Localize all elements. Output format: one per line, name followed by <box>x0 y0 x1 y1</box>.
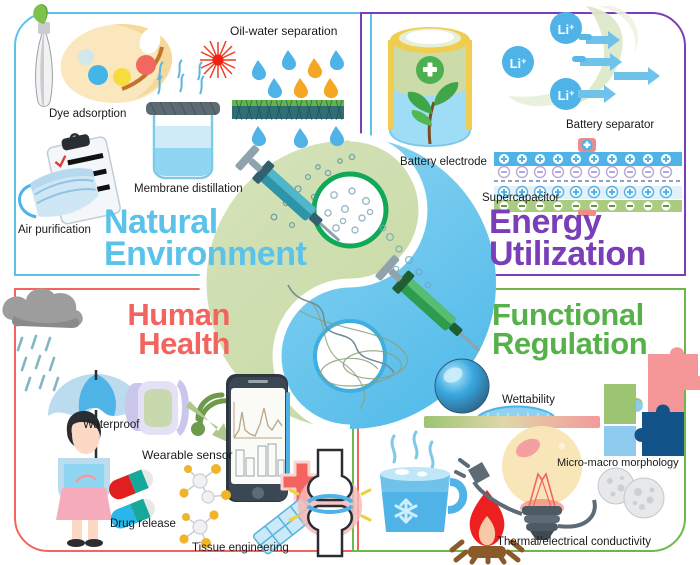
lightbulb-conductivity-icon <box>468 422 628 550</box>
label-oil-water-separation: Oil-water separation <box>230 24 337 38</box>
label-wettability: Wettability <box>502 394 555 406</box>
label-tissue-engineering: Tissue engineering <box>192 542 289 554</box>
label-dye-adsorption: Dye adsorption <box>49 108 126 120</box>
figure-canvas: Dye adsorption <box>0 0 700 565</box>
molecule-icon <box>166 455 252 551</box>
title-functional-regulation: Functional Regulation <box>492 300 647 359</box>
label-waterproof: Waterproof <box>83 419 139 431</box>
label-thermal-electrical-conductivity: Thermal/electrical conductivity <box>497 536 651 548</box>
battery-separator-icon: Li+ Li+ Li+ <box>494 6 694 124</box>
title-human-health: Human Health <box>100 300 230 359</box>
face-mask-icon <box>12 168 112 224</box>
label-battery-separator: Battery separator <box>566 119 654 131</box>
label-membrane-distillation: Membrane distillation <box>134 183 243 195</box>
battery-electrode-icon <box>382 22 478 150</box>
label-drug-release: Drug release <box>110 518 176 530</box>
label-wearable-sensor: Wearable sensor <box>142 448 233 462</box>
joint-bone-icon <box>292 450 368 556</box>
label-air-purification: Air purification <box>18 224 91 236</box>
oil-water-separation-icon <box>196 36 346 146</box>
title-natural-environment: Natural Environment <box>104 206 306 271</box>
title-energy-utilization: Energy Utilization <box>489 206 646 271</box>
label-micro-macro-morphology: Micro-macro morphology <box>557 457 679 469</box>
label-battery-electrode: Battery electrode <box>400 156 487 168</box>
